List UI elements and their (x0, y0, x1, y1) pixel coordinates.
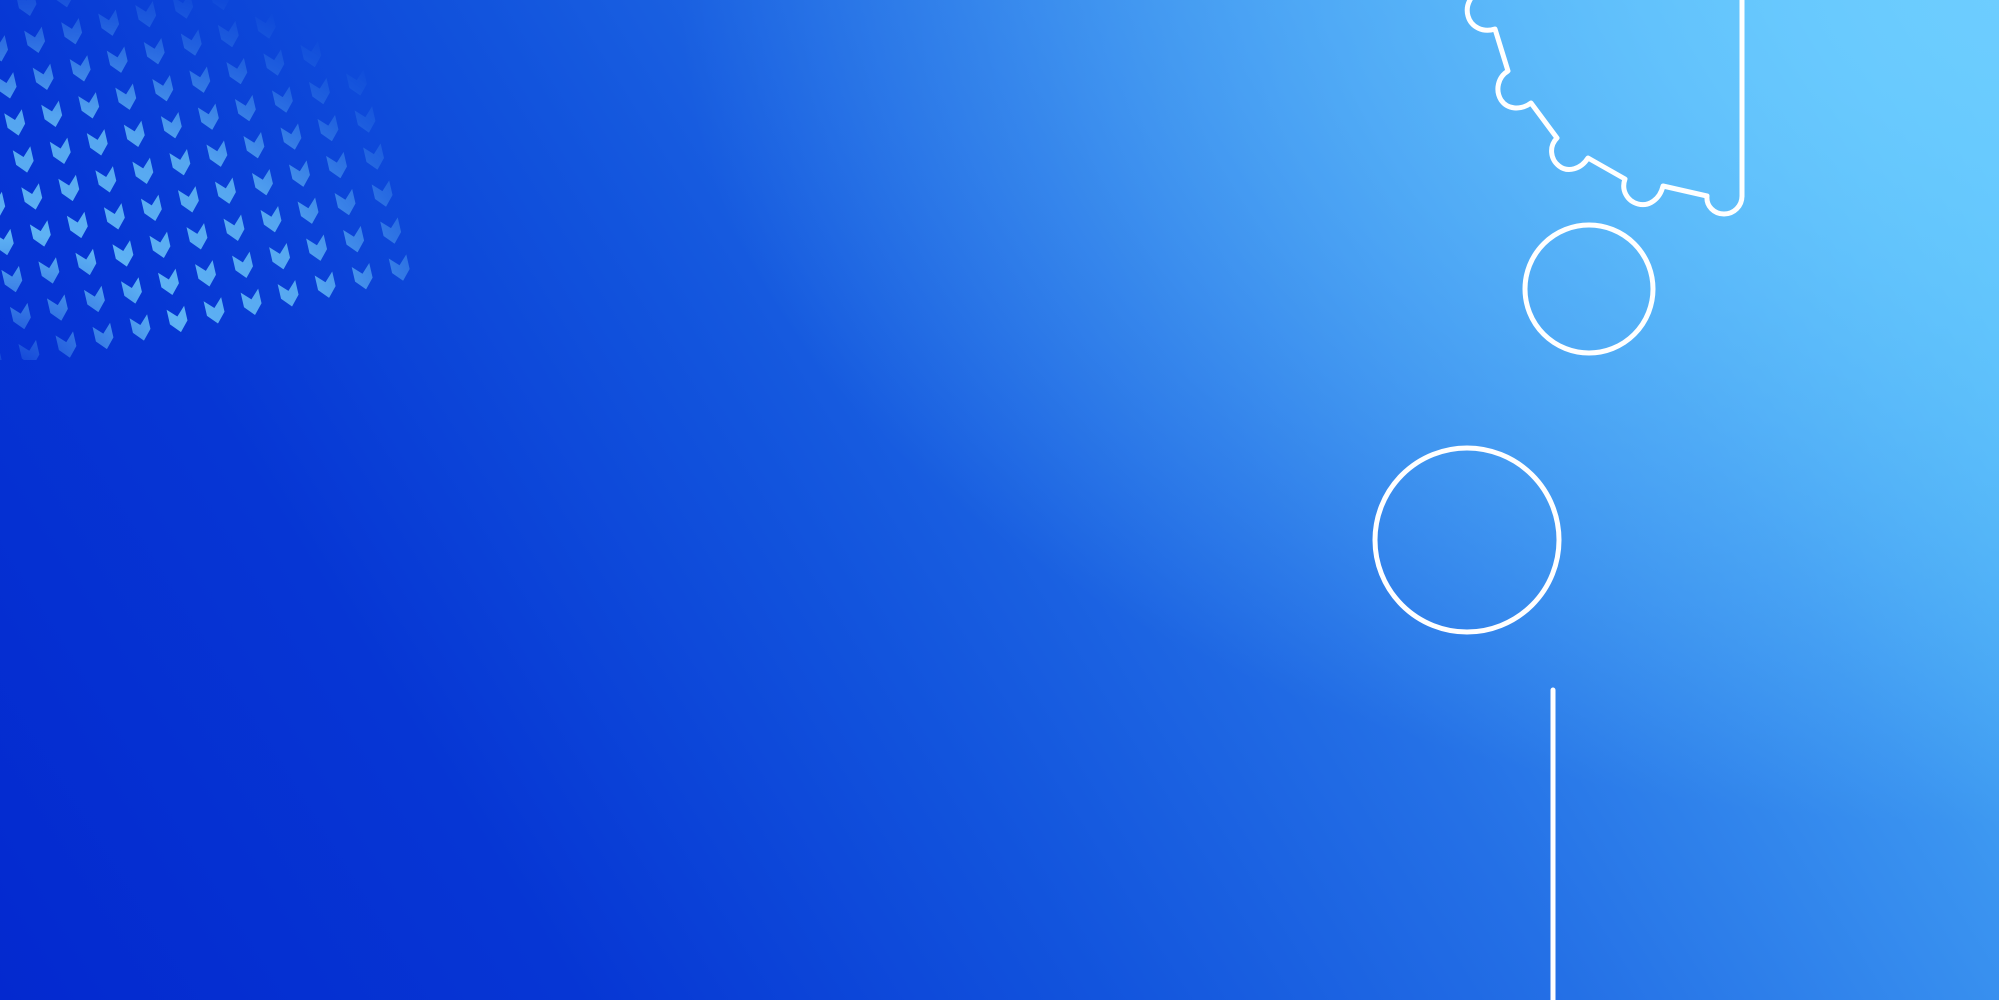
large-gear (1375, 448, 1559, 632)
small-gear (1525, 225, 1653, 353)
maintenance-page (0, 0, 1999, 1000)
large-gear-hub (1375, 448, 1559, 632)
message-block (148, 258, 1168, 298)
small-gear-outline (1467, 0, 1742, 214)
chevron-pattern (0, 0, 446, 360)
small-gear-hub (1525, 225, 1653, 353)
gear-illustration (1239, 0, 1999, 1000)
